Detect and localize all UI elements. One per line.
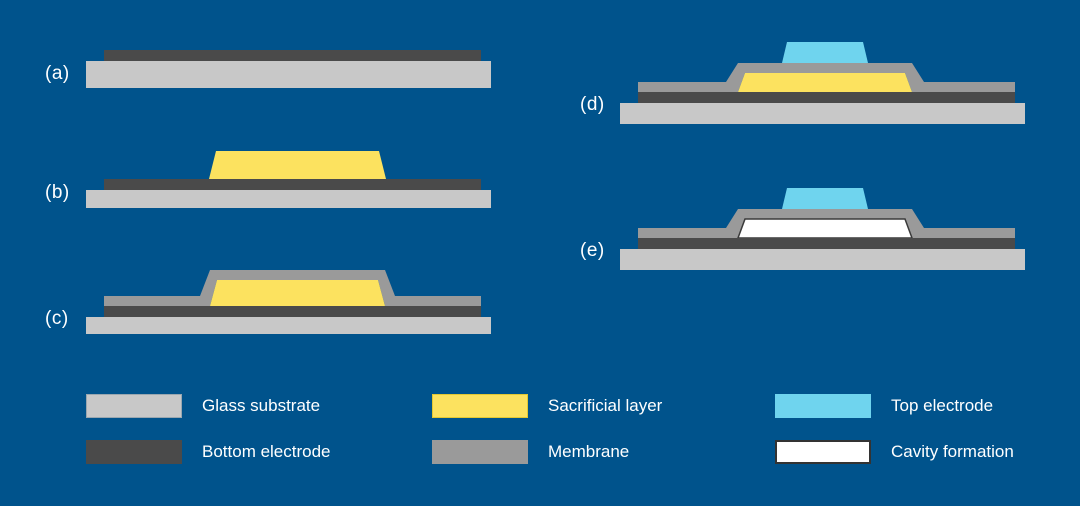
legend-swatch-top-electrode [775,394,871,418]
glass-substrate-layer [86,61,491,88]
legend-item-glass-substrate: Glass substrate [86,394,320,418]
bottom-electrode-layer [104,306,481,317]
legend-label-cavity-formation: Cavity formation [891,442,1014,462]
glass-substrate-layer [86,190,491,208]
panel-label-b: (b) [45,182,70,204]
legend-swatch-cavity-formation [775,440,871,464]
panel-label-c: (c) [45,308,69,330]
legend-item-sacrificial-layer: Sacrificial layer [432,394,662,418]
legend: Glass substrate Bottom electrode Sacrifi… [0,378,1080,478]
sacrificial-layer [738,73,912,92]
panel-a-diagram [86,50,496,90]
bottom-electrode-layer [638,92,1015,103]
bottom-electrode-layer [104,50,481,61]
sacrificial-layer [209,151,386,179]
bottom-electrode-layer [104,179,481,190]
legend-item-top-electrode: Top electrode [775,394,993,418]
legend-item-membrane: Membrane [432,440,629,464]
legend-item-bottom-electrode: Bottom electrode [86,440,331,464]
glass-substrate-layer [86,317,491,334]
legend-label-sacrificial-layer: Sacrificial layer [548,396,662,416]
legend-swatch-membrane [432,440,528,464]
panel-d-diagram [620,32,1030,124]
legend-column-2: Sacrificial layer Membrane [432,378,762,478]
panel-label-a: (a) [45,63,70,85]
legend-label-bottom-electrode: Bottom electrode [202,442,331,462]
bottom-electrode-layer [638,238,1015,249]
sacrificial-layer [210,280,385,306]
panel-c-diagram [86,262,496,334]
legend-label-top-electrode: Top electrode [891,396,993,416]
legend-swatch-bottom-electrode [86,440,182,464]
panel-b-diagram [86,148,496,208]
legend-swatch-glass-substrate [86,394,182,418]
legend-swatch-sacrificial-layer [432,394,528,418]
top-electrode-layer [782,42,868,63]
legend-item-cavity-formation: Cavity formation [775,440,1014,464]
legend-label-membrane: Membrane [548,442,629,462]
panel-e-diagram [620,178,1030,270]
legend-column-1: Glass substrate Bottom electrode [86,378,416,478]
process-flow-figure: (a) (b) (c) (d) (e) [0,0,1080,506]
glass-substrate-layer [620,103,1025,124]
cavity-formation-layer [738,219,912,238]
legend-column-3: Top electrode Cavity formation [775,378,1080,478]
legend-label-glass-substrate: Glass substrate [202,396,320,416]
panel-label-e: (e) [580,240,605,262]
top-electrode-layer [782,188,868,209]
glass-substrate-layer [620,249,1025,270]
panel-label-d: (d) [580,94,605,116]
